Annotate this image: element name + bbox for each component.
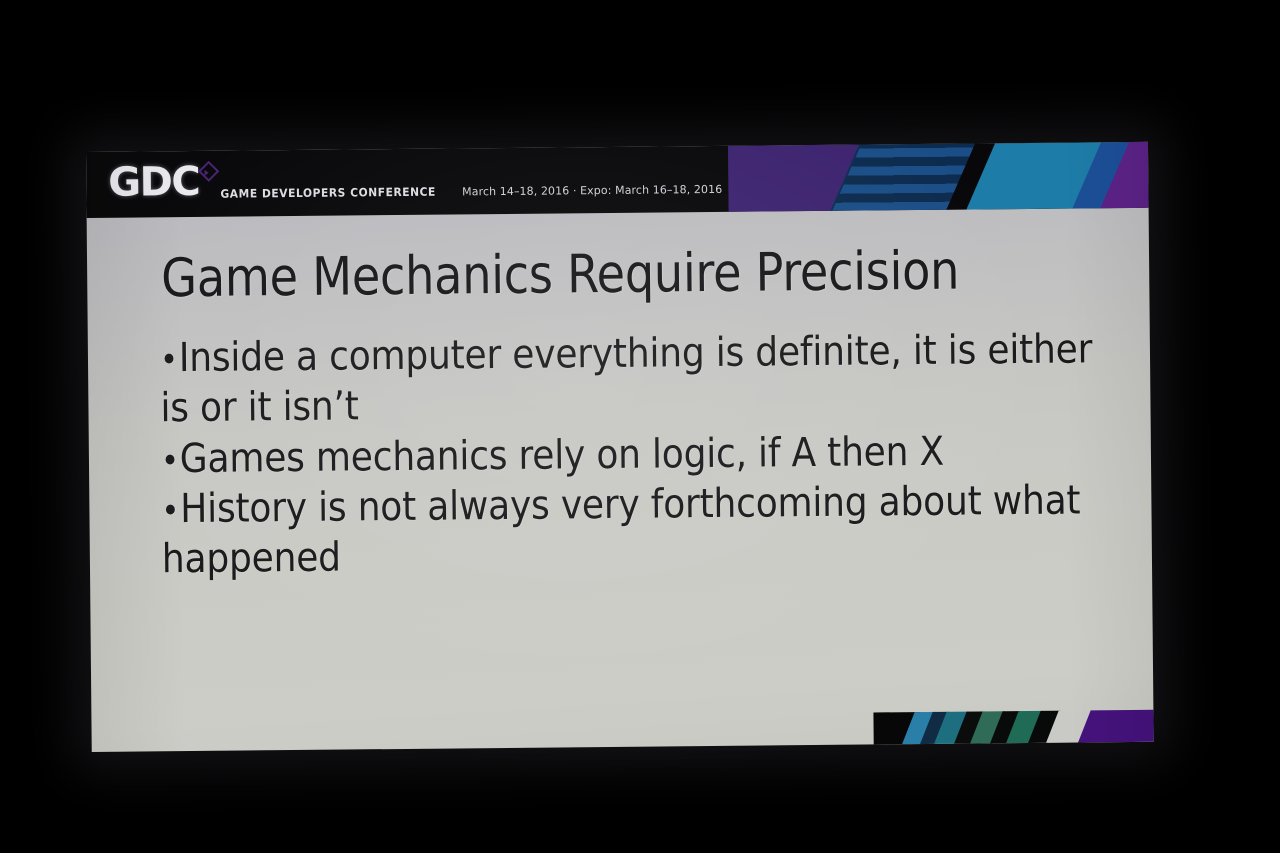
- conference-name-label: GAME DEVELOPERS CONFERENCE: [220, 185, 436, 201]
- slide-content: Game Mechanics Require Precision Inside …: [87, 208, 1154, 752]
- header-tagline: GAME DEVELOPERS CONFERENCE March 14–18, …: [220, 181, 780, 200]
- slide-frame: GDC GAME DEVELOPERS CONFERENCE March 14–…: [86, 142, 1154, 752]
- slide-title: Game Mechanics Require Precision: [161, 243, 1075, 308]
- gdc-logo-wordmark: GDC: [108, 162, 199, 203]
- conference-dates-label: March 14–18, 2016 · Expo: March 16–18, 2…: [462, 183, 722, 198]
- bullet-item: History is not always very forthcoming a…: [161, 475, 1106, 584]
- bullet-item: Games mechanics rely on logic, if A then…: [161, 425, 1105, 484]
- header-diagonal-stripes-decoration: [728, 142, 1149, 212]
- bullet-list: Inside a computer everything is definite…: [162, 324, 1106, 584]
- gdc-logo: GDC: [108, 162, 216, 203]
- bullet-item: Inside a computer everything is definite…: [160, 324, 1105, 433]
- gdc-diamond-icon: [198, 161, 219, 182]
- slide-header-bar: GDC GAME DEVELOPERS CONFERENCE March 14–…: [86, 142, 1149, 218]
- footer-diagonal-stripes-decoration: [873, 710, 1153, 745]
- projected-slide-photo: GDC GAME DEVELOPERS CONFERENCE March 14–…: [0, 0, 1280, 853]
- slide: GDC GAME DEVELOPERS CONFERENCE March 14–…: [86, 142, 1154, 752]
